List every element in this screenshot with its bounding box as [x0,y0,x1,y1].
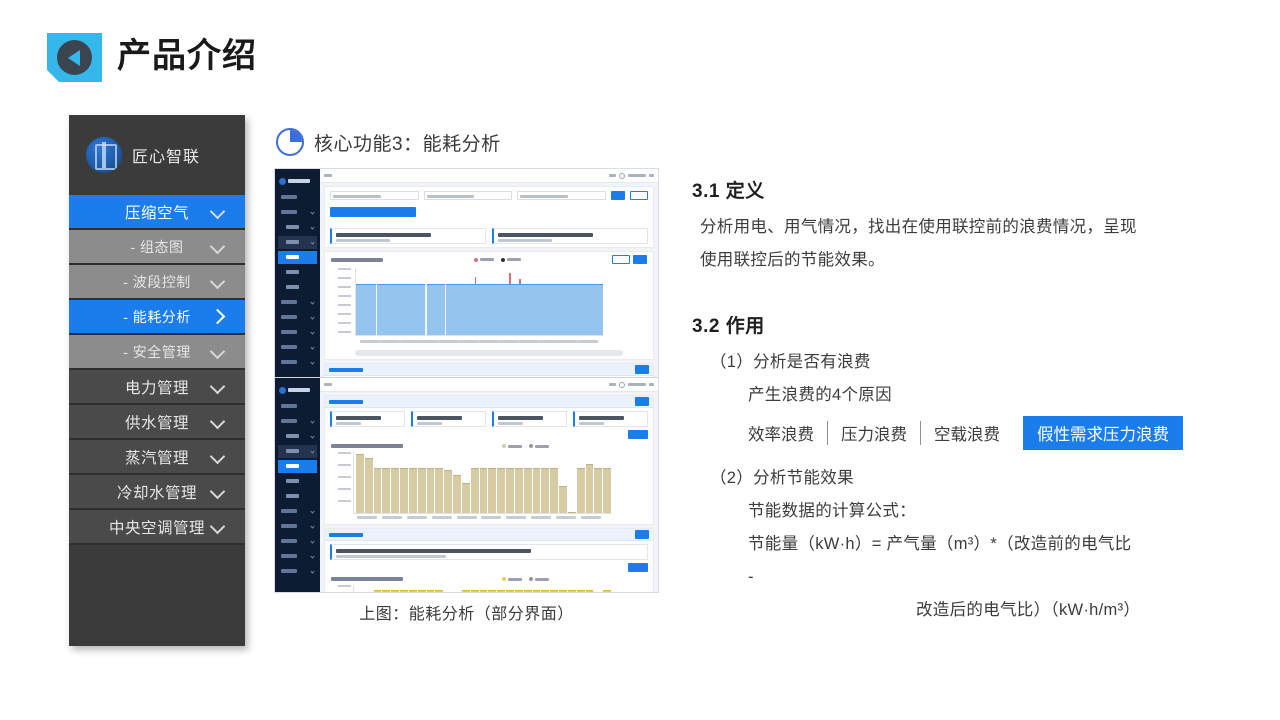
heading-3-2: 3.2 作用 [692,311,1248,338]
hamburger-icon[interactable] [324,174,332,177]
app-topbar [320,169,658,183]
sidebar-item-band-control[interactable]: - 波段控制 [69,265,245,300]
area-series [356,284,603,335]
app-nav-item[interactable] [278,445,317,458]
chevron-down-icon [310,240,314,244]
app-nav-item[interactable] [278,505,317,518]
app-nav-item[interactable] [278,281,317,294]
chevron-down-icon [310,315,314,319]
sidebar-item-compressed-air[interactable]: 压缩空气 [69,195,245,230]
sidebar-item-configuration-diagram[interactable]: - 组态图 [69,230,245,265]
y-axis [331,583,353,593]
kpi-card [411,411,486,427]
chart-title [331,577,403,581]
sidebar-item-label: - 能耗分析 [123,307,191,327]
filter-row [325,187,653,204]
section-header-bar [325,529,653,541]
app-nav-item[interactable] [278,475,317,488]
sidebar-item-central-ac-management[interactable]: 中央空调管理 [69,510,245,545]
sidebar-item-label: - 波段控制 [123,272,191,292]
reset-button[interactable] [630,191,648,200]
sidebar-item-energy-analysis[interactable]: - 能耗分析 [69,300,245,335]
sidebar-item-label: 蒸汽管理 [125,446,189,468]
section-title [329,400,363,404]
section-export-button[interactable] [635,397,649,406]
reason-idle-load-waste[interactable]: 空载浪费 [921,416,1013,450]
list-item-2: （2）分析节能效果 [710,462,1248,495]
pressure-trend-card [324,251,654,360]
chevron-down-icon[interactable] [210,483,226,499]
kpi-row [325,541,653,563]
chevron-down-icon [310,330,314,334]
app-nav-item[interactable] [278,430,317,443]
y-axis [331,266,353,336]
chart-legend [502,577,549,581]
app-nav-item[interactable] [278,415,317,428]
heading-3-1: 3.1 定义 [692,176,1248,203]
table-export-button[interactable] [635,365,649,374]
avatar[interactable] [619,173,625,179]
app-logo-icon [279,178,286,185]
chart-title [331,258,383,262]
screenshot-caption: 上图：能耗分析（部分界面） [274,600,659,624]
app-brand-text [288,388,310,392]
kpi-card [492,228,648,244]
chart-header [325,252,653,264]
app-nav-item[interactable] [278,341,317,354]
download-report-button[interactable] [628,430,648,439]
chevron-down-icon [310,419,314,423]
app-nav-item[interactable] [278,535,317,548]
select-device[interactable] [424,191,513,200]
sidebar-item-label: 供水管理 [125,411,189,433]
chart-legend [502,444,549,448]
sidebar-item-label: 压缩空气 [125,201,189,223]
chart-header [325,574,653,581]
app-logo-icon [279,387,286,394]
app-nav-item[interactable] [278,490,317,503]
kpi-row [325,408,653,430]
active-tab-tag[interactable] [330,207,416,217]
user-name-label [628,174,646,177]
formula-line-2: 改造后的电气比）（kW·h/m³） [916,594,1248,627]
app-nav-item-active[interactable] [278,251,317,264]
chevron-down-icon [310,300,314,304]
sidebar-item-label: 中央空调管理 [109,516,205,538]
kpi-card [492,411,567,427]
app-screenshot-top [275,169,658,377]
sidebar-item-safety-management[interactable]: - 安全管理 [69,335,245,370]
chevron-down-icon[interactable] [210,413,226,429]
page-title: 产品介绍 [117,33,257,79]
company-logo-icon [86,137,122,173]
date-range-input[interactable] [517,191,606,200]
sidebar-item-power-management[interactable]: 电力管理 [69,370,245,405]
section-title [329,533,363,537]
plot-area [355,268,603,336]
core-function-title: 核心功能3：能耗分析 [276,128,501,156]
app-topbar [320,378,658,392]
triangle-left-icon [68,50,80,66]
app-nav-item[interactable] [278,296,317,309]
chevron-down-icon[interactable] [210,273,226,289]
sidebar-item-water-supply-management[interactable]: 供水管理 [69,405,245,440]
content-column: 3.1 定义 分析用电、用气情况，找出在使用联控前的浪费情况，呈现 使用联控后的… [692,176,1248,627]
core-function-label: 核心功能3：能耗分析 [314,129,501,156]
avatar[interactable] [619,382,625,388]
kpi-card [330,228,486,244]
waste-reason-group: 效率浪费 压力浪费 空载浪费 假性需求压力浪费 [748,416,1248,450]
annotation-marker [591,472,617,480]
hamburger-icon[interactable] [324,383,332,386]
reason-pressure-waste[interactable]: 压力浪费 [828,416,920,450]
x-axis [355,514,603,524]
app-sidebar [275,169,320,377]
chevron-down-icon [310,225,314,229]
chart-title [331,444,403,448]
app-nav-item-active[interactable] [278,460,317,473]
chart-header [325,441,653,448]
badge-circle [57,40,92,75]
definition-line-1: 分析用电、用气情况，找出在使用联控前的浪费情况，呈现 [700,218,1137,236]
app-main-area [320,169,658,377]
bar-series [353,585,611,593]
bar-series [353,452,611,514]
app-nav-item[interactable] [278,206,317,219]
chevron-down-icon [310,524,314,528]
gas-chart-card [324,528,654,593]
filter-card [324,186,654,248]
brand-name: 匠心智联 [132,143,200,167]
app-nav-item[interactable] [278,356,317,369]
sidebar-item-label: 电力管理 [125,376,189,398]
app-nav-item[interactable] [278,326,317,339]
play-back-triangle-icon [47,33,102,82]
section-export-button[interactable] [635,530,649,539]
electricity-chart-card [324,395,654,525]
app-nav-item[interactable] [278,400,317,413]
chevron-down-icon[interactable] [210,238,226,254]
formula-dash: - [748,561,1248,594]
definition-line-2: 使用联控后的节能效果。 [700,251,885,269]
sidebar-item-cooling-water-management[interactable]: 冷却水管理 [69,475,245,510]
chevron-down-icon[interactable] [210,343,226,359]
formula-block: 节能量（kW·h）= 产气量（m³）*（改造前的电气比 - 改造后的电气比）（k… [748,528,1248,627]
kpi-row [325,225,653,247]
chevron-down-icon [310,345,314,349]
select-station[interactable] [330,191,419,200]
app-main-area [320,378,658,593]
app-screenshot-bottom [275,377,658,593]
table-header-bar [325,364,653,376]
app-nav-item[interactable] [278,191,317,204]
formula-line-1: 节能量（kW·h）= 产气量（m³）*（改造前的电气比 [748,535,1131,553]
bar-chart-gas [331,583,647,593]
embedded-app-screenshot [274,168,659,593]
app-sidebar [275,378,320,593]
chevron-down-icon[interactable] [210,203,226,219]
chevron-down-icon [310,554,314,558]
app-sidebar-brand [275,173,320,189]
gear-icon[interactable] [649,174,654,177]
slide-header: 产品介绍 [0,0,1280,96]
app-nav-item[interactable] [278,520,317,533]
chevron-down-icon [310,449,314,453]
export-button[interactable] [612,255,630,264]
section-header-bar [325,396,653,408]
app-nav-item[interactable] [278,311,317,324]
chevron-down-icon [310,434,314,438]
app-brand-text [288,179,310,183]
chevron-right-icon[interactable] [210,308,226,324]
chevron-down-icon[interactable] [210,448,226,464]
chart-datazoom-scrollbar[interactable] [355,350,623,356]
reason-efficiency-waste[interactable]: 效率浪费 [748,416,827,450]
chevron-down-icon[interactable] [210,378,226,394]
sidebar-item-steam-management[interactable]: 蒸汽管理 [69,440,245,475]
chevron-down-icon [310,539,314,543]
app-nav-item[interactable] [278,236,317,249]
list-item-1: （1）分析是否有浪费 [710,346,1248,379]
pie-chart-icon [276,128,304,156]
chevron-down-icon [310,360,314,364]
kpi-card [573,411,648,427]
sidebar-item-label: - 组态图 [130,237,183,257]
table-title [329,368,363,372]
area-chart-pressure [331,266,647,348]
reason-false-demand-pressure-waste[interactable]: 假性需求压力浪费 [1023,416,1183,450]
app-nav-item[interactable] [278,221,317,234]
product-menu-panel: 匠心智联 压缩空气 - 组态图 - 波段控制 - 能耗分析 - 安全管理 电力管… [69,115,245,646]
query-button[interactable] [611,191,625,200]
bar-chart-electricity [331,450,647,524]
user-name-label [628,383,646,386]
y-axis [331,450,353,512]
sidebar-item-label: 冷却水管理 [117,481,197,503]
app-nav-item[interactable] [278,565,317,578]
app-nav-item[interactable] [278,266,317,279]
app-sidebar-brand [275,382,320,398]
list-item-2-sub: 节能数据的计算公式： [748,495,1248,528]
app-nav-item[interactable] [278,550,317,563]
menu-brand: 匠心智联 [69,115,245,195]
detail-table-card [324,363,654,377]
x-axis [355,338,603,348]
refresh-button[interactable] [633,255,647,264]
gear-icon[interactable] [649,383,654,386]
kpi-card [330,544,648,560]
kpi-card [330,411,405,427]
download-report-button[interactable] [628,563,648,572]
sidebar-item-label: - 安全管理 [123,342,191,362]
search-icon[interactable] [609,383,616,386]
definition-paragraph: 分析用电、用气情况，找出在使用联控前的浪费情况，呈现 使用联控后的节能效果。 [700,211,1248,277]
chevron-down-icon[interactable] [210,518,226,534]
list-item-1-sub: 产生浪费的4个原因 [748,379,1248,412]
chevron-down-icon [310,509,314,513]
chart-legend [474,258,521,262]
slide-root: 产品介绍 匠心智联 压缩空气 - 组态图 - 波段控制 - 能耗分析 - 安全管… [0,0,1280,720]
chevron-down-icon [310,569,314,573]
chevron-down-icon [310,210,314,214]
search-icon[interactable] [609,174,616,177]
